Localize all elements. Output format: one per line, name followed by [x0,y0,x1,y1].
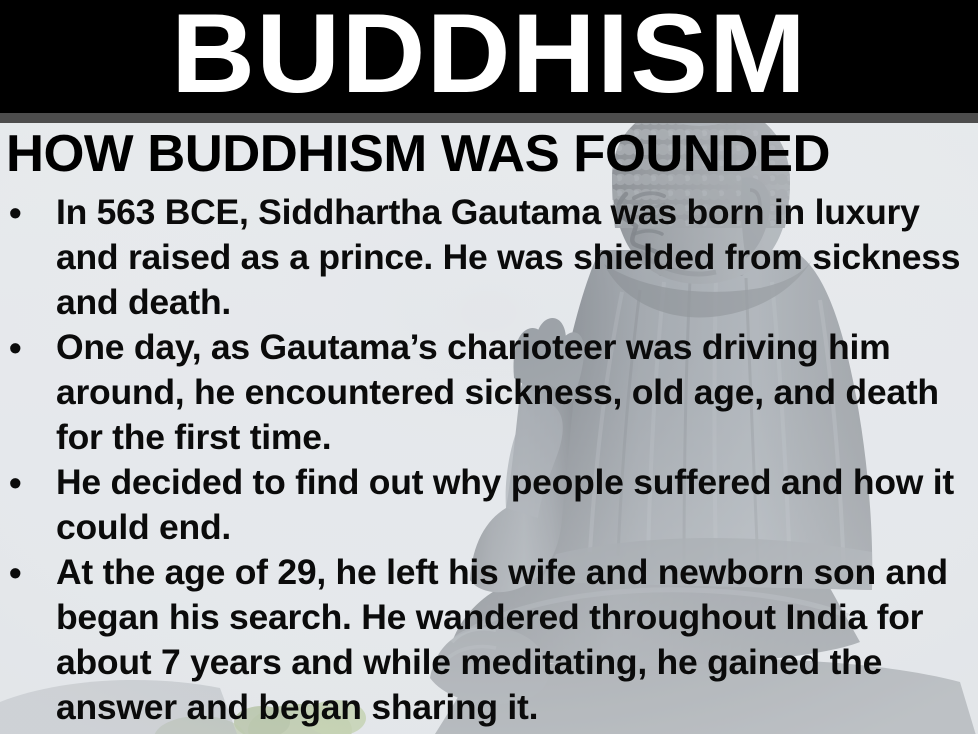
list-item-text: One day, as Gautama’s charioteer was dri… [56,325,978,460]
list-item: • In 563 BCE, Siddhartha Gautama was bor… [0,190,978,325]
bullet-icon: • [0,325,56,370]
list-item: • He decided to find out why people suff… [0,460,978,550]
title-divider [0,113,978,123]
section-heading: HOW BUDDHISM WAS FOUNDED [6,126,978,182]
list-item-text: He decided to find out why people suffer… [56,460,978,550]
bullet-icon: • [0,190,56,235]
list-item: • At the age of 29, he left his wife and… [0,550,978,730]
bullet-icon: • [0,460,56,505]
list-item-text: In 563 BCE, Siddhartha Gautama was born … [56,190,978,325]
list-item: • One day, as Gautama’s charioteer was d… [0,325,978,460]
page-title: BUDDHISM [0,0,978,114]
bullet-list: • In 563 BCE, Siddhartha Gautama was bor… [0,190,978,730]
title-band: BUDDHISM [0,0,978,114]
slide-canvas: BUDDHISM HOW BUDDHISM WAS FOUNDED • In 5… [0,0,978,734]
bullet-icon: • [0,550,56,595]
list-item-text: At the age of 29, he left his wife and n… [56,550,978,730]
